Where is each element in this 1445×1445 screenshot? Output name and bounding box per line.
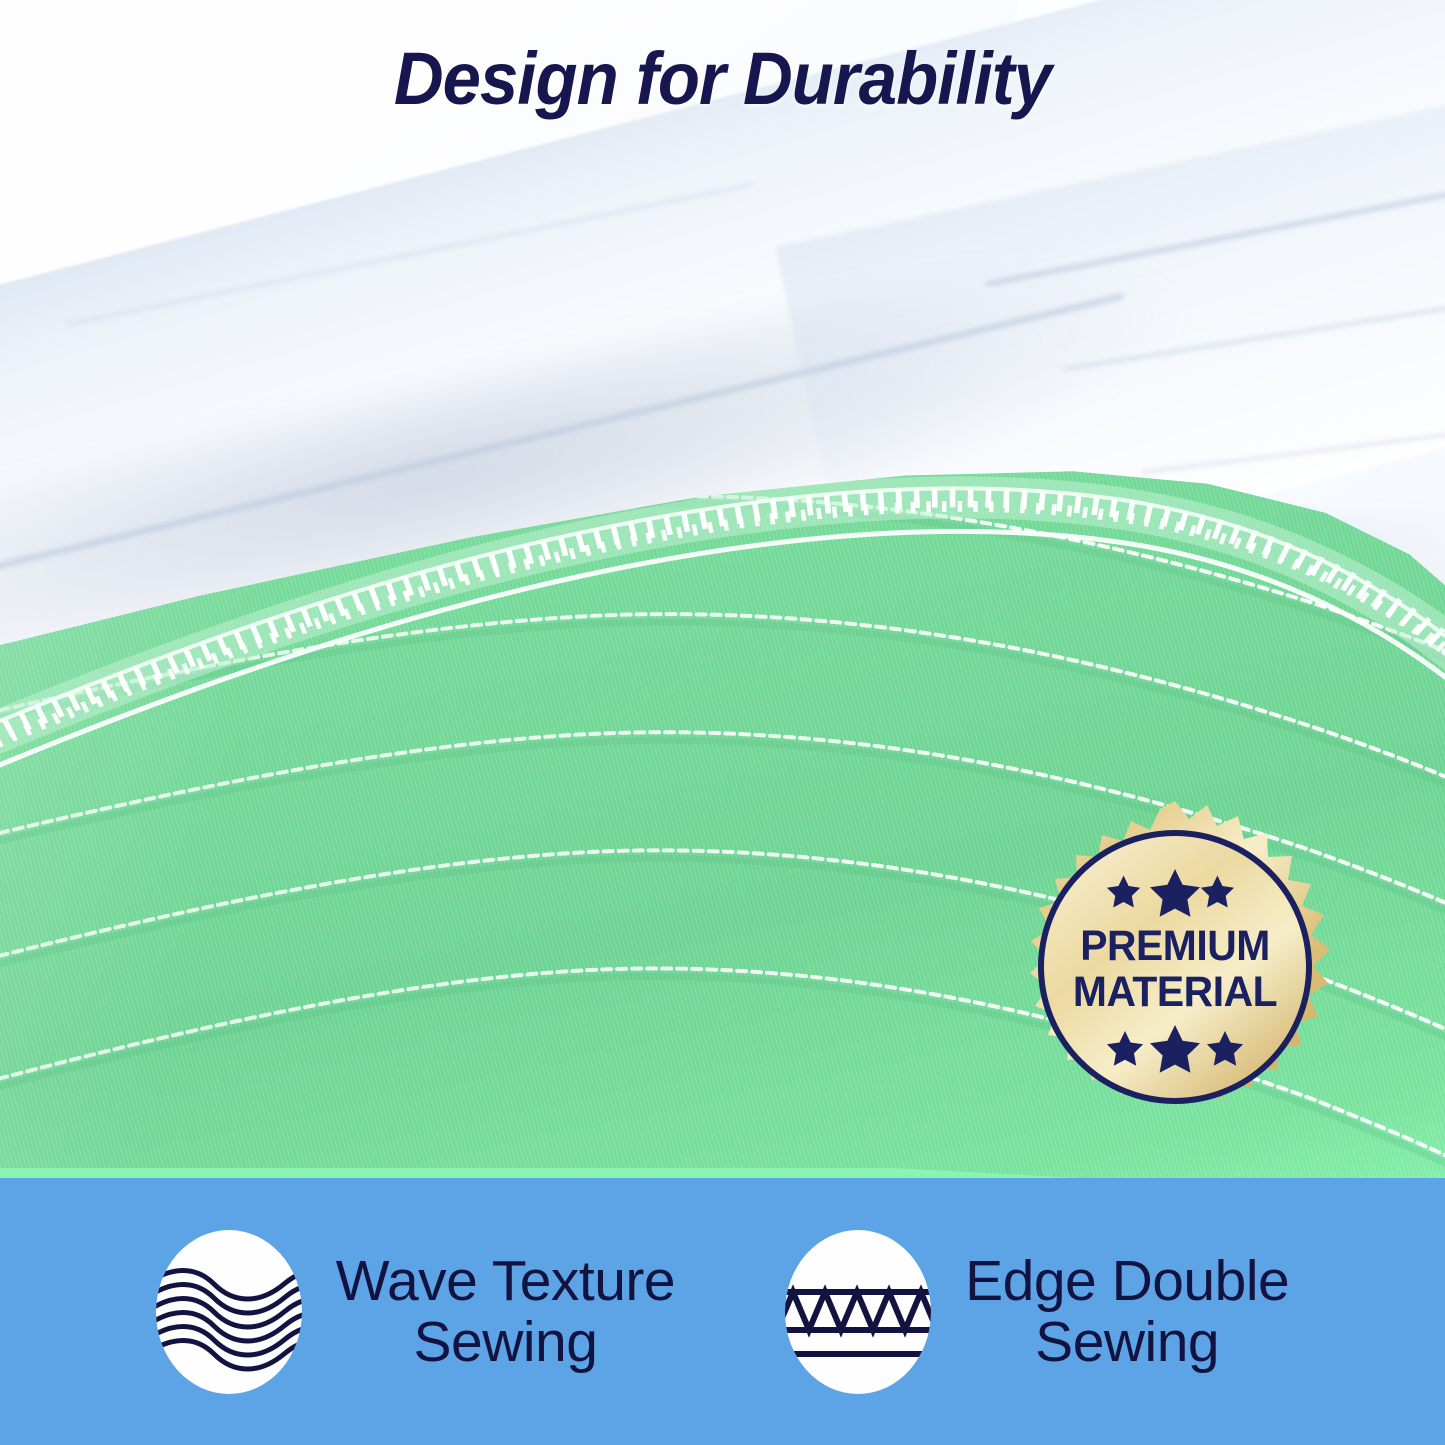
premium-material-badge: PREMIUM MATERIAL: [1015, 795, 1335, 1143]
product-infographic: Design for Durability: [0, 0, 1445, 1445]
feature-label: Edge Double Sewing: [965, 1251, 1289, 1372]
zigzag-stitch-icon: [785, 1230, 931, 1394]
feature-banner: Wave Texture Sewing Edge Double Sewing: [0, 1178, 1445, 1445]
wave-lines-icon: [156, 1230, 302, 1394]
badge-seal-icon: [1015, 795, 1335, 1143]
feature-item-wave-texture: Wave Texture Sewing: [156, 1230, 675, 1394]
page-title: Design for Durability: [51, 36, 1395, 121]
feature-label: Wave Texture Sewing: [336, 1251, 675, 1372]
feature-item-edge-double: Edge Double Sewing: [785, 1230, 1289, 1394]
